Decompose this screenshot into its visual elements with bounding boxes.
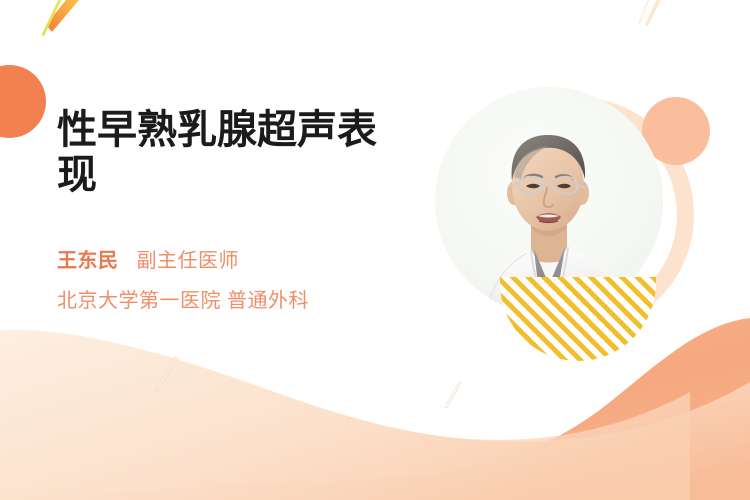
stroke-orange [46,0,84,32]
speaker-affiliation: 北京大学第一医院 普通外科 [57,290,309,312]
diagonal-strokes-icon [18,0,98,56]
speaker-name: 王东民 [57,244,119,273]
diagonal-strokes-faint-icon [620,0,700,46]
wave-mid [0,332,750,500]
affiliation-row: 北京大学第一医院 普通外科 [57,284,409,313]
faint-stroke-left-icon [148,355,184,395]
arc-ring-icon [430,75,720,365]
portrait-cluster [430,75,720,365]
speaker-rank: 副主任医师 [137,244,240,273]
orange-circle-icon [0,65,46,138]
lecture-cover-card: 性早熟乳腺超声表现 王东民 副主任医师 北京大学第一医院 普通外科 [0,0,750,500]
avatar [435,87,663,315]
portrait-photo [435,87,663,315]
bottom-wave-group [0,310,750,500]
cover-text-block: 性早熟乳腺超声表现 王东民 副主任医师 北京大学第一医院 普通外科 [57,108,409,313]
striped-semicircle-icon [500,277,656,361]
speaker-row: 王东民 副主任医师 [57,244,409,273]
salmon-circle-icon [642,97,710,165]
page-title: 性早熟乳腺超声表现 [57,108,409,198]
wave-light [0,330,690,500]
stroke-yellow [42,0,66,36]
wave-shape-icon [0,310,750,500]
wave-deep [0,318,750,500]
faint-stroke-middle-icon [440,380,466,410]
